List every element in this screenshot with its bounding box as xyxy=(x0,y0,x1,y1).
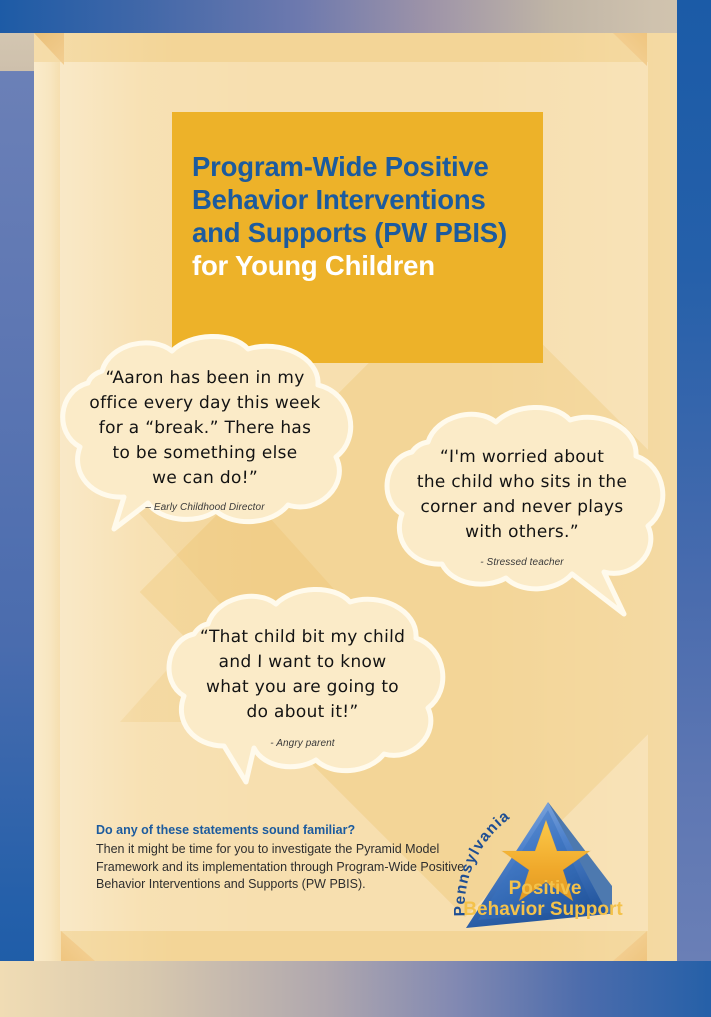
title-line-4: for Young Children xyxy=(192,249,537,282)
quote-line: what you are going to xyxy=(150,675,455,700)
call-to-action-block: Do any of these statements sound familia… xyxy=(96,822,466,894)
quote-line: do about it!” xyxy=(150,700,455,725)
quote-line: “I'm worried about xyxy=(372,445,672,470)
poster-page: Program-Wide Positive Behavior Intervent… xyxy=(0,0,711,1017)
speech-bubble-1-text: “Aaron has been in my office every day t… xyxy=(40,333,370,513)
left-gradient-band xyxy=(0,33,34,1017)
quote-attribution: - Stressed teacher xyxy=(372,557,672,568)
quote-line: we can do!” xyxy=(40,466,370,491)
speech-bubble-2-text: “I'm worried about the child who sits in… xyxy=(372,402,672,568)
quote-line: corner and never plays xyxy=(372,495,672,520)
left-band-cap xyxy=(0,33,34,71)
cta-heading: Do any of these statements sound familia… xyxy=(96,822,466,839)
quote-line: the child who sits in the xyxy=(372,470,672,495)
quote-attribution: – Early Childhood Director xyxy=(40,502,370,513)
quote-line: “That child bit my child xyxy=(150,625,455,650)
page-title: Program-Wide Positive Behavior Intervent… xyxy=(192,150,537,282)
speech-bubble-1: “Aaron has been in my office every day t… xyxy=(40,333,370,548)
speech-bubble-3: “That child bit my child and I want to k… xyxy=(150,586,455,801)
quote-line: to be something else xyxy=(40,441,370,466)
speech-bubble-3-text: “That child bit my child and I want to k… xyxy=(150,586,455,749)
pa-pbs-logo: Pennsylvania Positive Behavior Support xyxy=(452,788,632,948)
title-line-1: Program-Wide Positive xyxy=(192,150,537,183)
cta-body: Then it might be time for you to investi… xyxy=(96,841,466,894)
quote-line: with others.” xyxy=(372,520,672,545)
title-line-2: Behavior Interventions xyxy=(192,183,537,216)
top-gradient-band xyxy=(0,0,711,33)
title-line-3: and Supports (PW PBIS) xyxy=(192,216,537,249)
logo-line-behavior-support: Behavior Support xyxy=(463,899,623,920)
logo-line-positive: Positive xyxy=(509,878,582,899)
bottom-gradient-band xyxy=(0,961,711,1017)
right-gradient-band xyxy=(677,0,711,961)
quote-line: office every day this week xyxy=(40,391,370,416)
quote-line: and I want to know xyxy=(150,650,455,675)
pa-pbs-logo-graphic: Pennsylvania Positive Behavior Support xyxy=(452,788,632,948)
quote-attribution: - Angry parent xyxy=(150,738,455,749)
quote-line: for a “break.” There has xyxy=(40,416,370,441)
quote-line: “Aaron has been in my xyxy=(40,366,370,391)
